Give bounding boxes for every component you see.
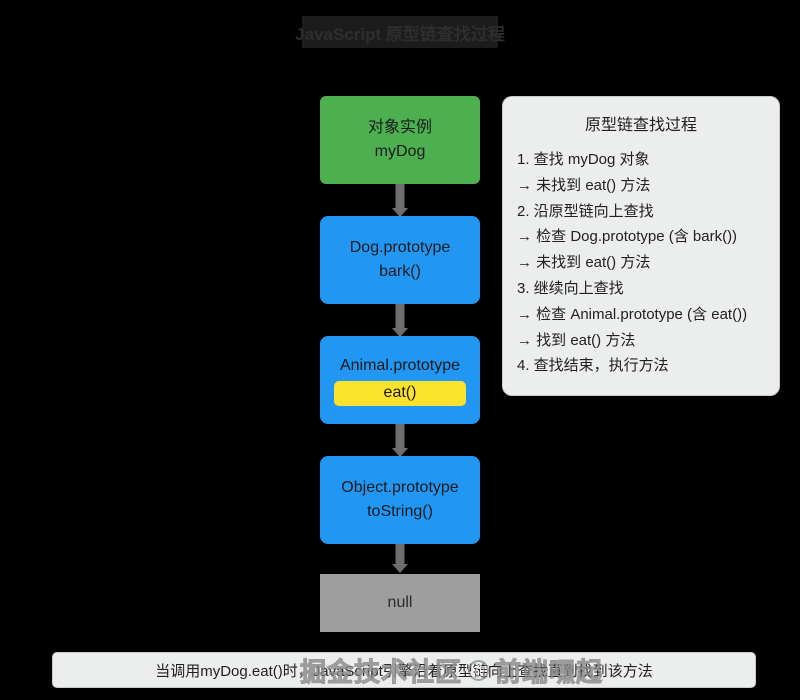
- node-label-secondary: myDog: [375, 140, 426, 164]
- node-label-primary: 对象实例: [368, 116, 432, 140]
- connector-stem: [396, 424, 405, 450]
- step-line: 2. 沿原型链向上查找: [517, 199, 765, 225]
- highlight-eat-method[interactable]: eat(): [334, 381, 466, 407]
- page-title: JavaScript 原型链查找过程: [295, 20, 505, 45]
- connector-arrow-2: [320, 304, 480, 336]
- step-line: → 未找到 eat() 方法: [517, 250, 765, 276]
- node-label-primary: null: [388, 591, 413, 615]
- panel-title: 原型链查找过程: [517, 111, 765, 135]
- node-label-primary: Animal.prototype: [340, 354, 460, 378]
- node-dog-prototype[interactable]: Dog.prototype bark(): [320, 216, 480, 304]
- page-title-bar: JavaScript 原型链查找过程: [302, 16, 498, 48]
- step-line: → 未找到 eat() 方法: [517, 173, 765, 199]
- node-object-instance[interactable]: 对象实例 myDog: [320, 96, 480, 184]
- caption-bar: 当调用myDog.eat()时，JavaScript引擎沿着原型链向上查找直到找…: [52, 652, 756, 688]
- connector-stem: [396, 184, 405, 210]
- connector-arrow-3: [320, 424, 480, 456]
- step-line: → 检查 Dog.prototype (含 bark()): [517, 224, 765, 250]
- node-null-terminator[interactable]: null: [320, 574, 480, 632]
- prototype-chain-diagram: 对象实例 myDog Dog.prototype bark() Animal.p…: [320, 96, 480, 632]
- node-label-primary: Object.prototype: [341, 476, 458, 500]
- connector-stem: [396, 304, 405, 330]
- node-animal-prototype[interactable]: Animal.prototype eat(): [320, 336, 480, 424]
- lookup-steps-panel: 原型链查找过程 1. 查找 myDog 对象 → 未找到 eat() 方法 2.…: [502, 96, 780, 396]
- node-label-secondary: bark(): [379, 260, 421, 284]
- step-line: 1. 查找 myDog 对象: [517, 147, 765, 173]
- step-line: 3. 继续向上查找: [517, 276, 765, 302]
- arrow-head-icon: [392, 564, 408, 573]
- step-line: → 检查 Animal.prototype (含 eat()): [517, 302, 765, 328]
- connector-arrow-1: [320, 184, 480, 216]
- node-object-prototype[interactable]: Object.prototype toString(): [320, 456, 480, 544]
- node-label-primary: Dog.prototype: [350, 236, 451, 260]
- step-line: 4. 查找结束，执行方法: [517, 353, 765, 379]
- step-line: → 找到 eat() 方法: [517, 328, 765, 354]
- connector-arrow-4: [320, 544, 480, 574]
- caption-text: 当调用myDog.eat()时，JavaScript引擎沿着原型链向上查找直到找…: [155, 660, 653, 681]
- connector-stem: [396, 544, 405, 566]
- node-label-secondary: toString(): [367, 500, 433, 524]
